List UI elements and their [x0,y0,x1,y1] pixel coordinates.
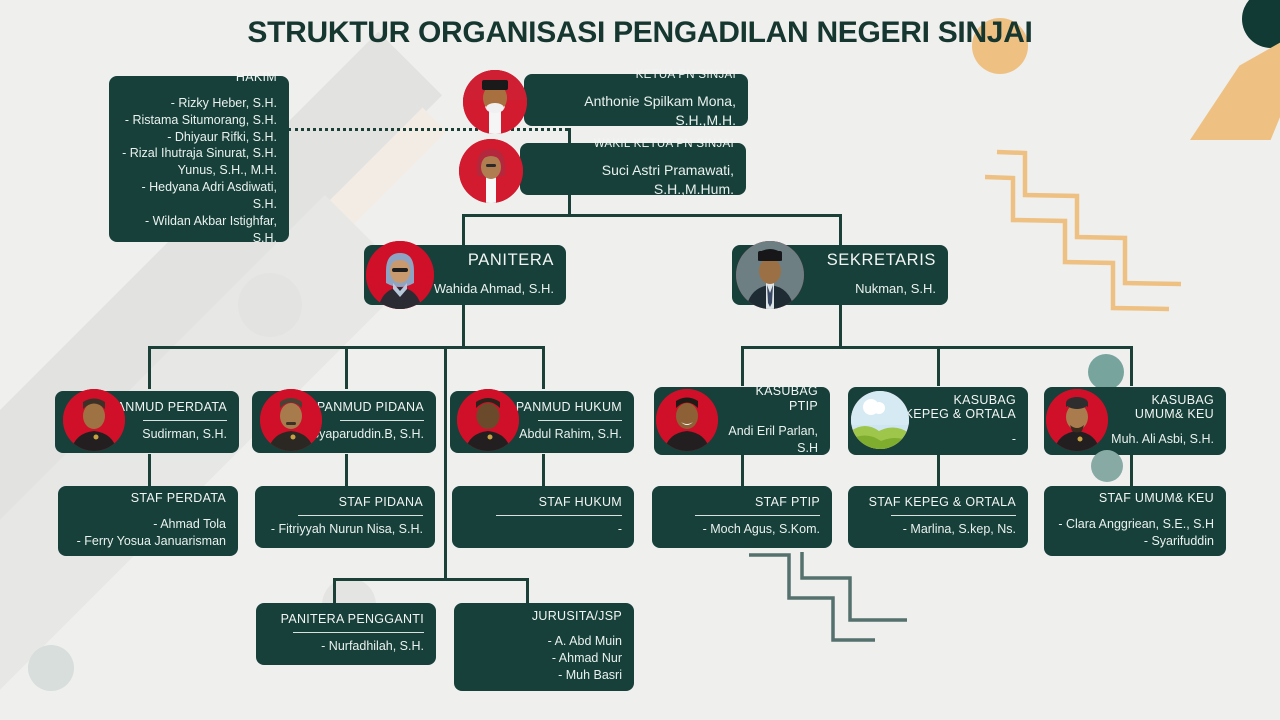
connector-hakim-dotted [288,128,568,131]
node-staf-pidana[interactable]: STAF PIDANA - Fitriyyah Nurun Nisa, S.H. [255,486,435,548]
placeholder-landscape-icon [851,391,909,449]
node-hakim-names: - Rizky Heber, S.H. - Ristama Situmorang… [121,95,277,247]
node-panitera-pengganti-title: PANITERA PENGGANTI [268,612,424,626]
divider [293,632,424,633]
divider [891,515,1016,516]
connector-drop-jurusita [526,578,529,603]
node-panmud-perdata-title: PANMUD PERDATA [107,400,227,414]
divider [298,515,423,516]
connector-panitera-to-bottom [444,346,447,578]
connector-panmud-perdata-to-staf [148,454,151,486]
decorative-zigzag-teal [745,552,920,652]
org-chart-poster: STRUKTUR ORGANISASI PENGADILAN NEGERI SI… [0,0,1280,720]
node-hakim-title: HAKIM [121,70,277,84]
node-ketua-title: KETUA PN SINJAI [576,69,736,82]
decorative-circle-grey-2 [28,645,74,691]
divider [538,420,622,421]
photo-wakil [459,139,523,203]
node-staf-hukum-title: STAF HUKUM [464,495,622,509]
node-staf-hukum-names: - [464,521,622,538]
connector-drop-kasubag-umum [1130,346,1133,386]
node-ketua-names: Anthonie Spilkam Mona, S.H.,M.H. [576,92,736,130]
node-wakil-ketua[interactable]: WAKIL KETUA PN SINJAI Suci Astri Pramawa… [520,143,746,195]
node-kasubag-umum-keu-names: Muh. Ali Asbi, S.H. [1096,431,1214,448]
connector-drop-panitera-pengganti [333,578,336,603]
node-staf-ptip-title: STAF PTIP [664,495,820,509]
node-staf-umum-keu-names: - Clara Anggriean, S.E., S.H - Syarifudd… [1056,516,1214,550]
photo-kasubag-ptip [656,389,718,451]
photo-kasubag-umum [1046,389,1108,451]
node-panitera-pengganti-names: - Nurfadhilah, S.H. [268,638,424,655]
node-panitera-pengganti[interactable]: PANITERA PENGGANTI - Nurfadhilah, S.H. [256,603,436,665]
node-panmud-hukum-names: Abdul Rahim, S.H. [502,426,622,443]
connector-drop-panmud-perdata [148,346,151,389]
node-hakim[interactable]: HAKIM - Rizky Heber, S.H. - Ristama Situ… [109,76,289,242]
connector-panitera-down [462,304,465,346]
connector-drop-kasubag-ptip [741,346,744,386]
node-staf-perdata[interactable]: STAF PERDATA - Ahmad Tola - Ferry Yosua … [58,486,238,556]
connector-bottom-branch [333,578,529,581]
connector-drop-panmud-hukum [542,346,545,389]
connector-kasubag-kepeg-to-staf [937,454,940,486]
connector-to-sekretaris [839,214,842,245]
photo-panmud-hukum [457,389,519,451]
connector-to-panitera [462,214,465,245]
node-staf-hukum[interactable]: STAF HUKUM - [452,486,634,548]
node-sekretaris-names: Nukman, S.H. [796,280,936,298]
connector-panmud-hukum-to-staf [542,454,545,486]
connector-kasubag-umum-to-staf [1130,454,1133,486]
node-kasubag-kepeg-ortala-title: KASUBAG KEPEG & ORTALA [900,393,1016,422]
node-staf-ptip[interactable]: STAF PTIP - Moch Agus, S.Kom. [652,486,832,548]
page-title: STRUKTUR ORGANISASI PENGADILAN NEGERI SI… [0,16,1280,50]
node-panmud-hukum-title: PANMUD HUKUM [502,400,622,414]
node-staf-perdata-title: STAF PERDATA [70,491,226,505]
node-staf-kepeg-ortala-title: STAF KEPEG & ORTALA [860,495,1016,509]
node-jurusita-jsp-title: JURUSITA/JSP [466,609,622,623]
photo-panmud-perdata [63,389,125,451]
node-staf-kepeg-ortala-names: - Marlina, S.kep, Ns. [860,521,1016,538]
node-wakil-ketua-names: Suci Astri Pramawati, S.H.,M.Hum. [572,161,734,199]
node-kasubag-ptip-title: KASUBAG PTIP [706,384,818,413]
node-staf-umum-keu[interactable]: STAF UMUM& KEU - Clara Anggriean, S.E., … [1044,486,1226,556]
node-kasubag-kepeg-ortala-names: - [900,431,1016,448]
node-jurusita-jsp-names: - A. Abd Muin - Ahmad Nur - Muh Basri [466,633,622,684]
node-sekretaris-title: SEKRETARIS [796,251,936,270]
node-staf-ptip-names: - Moch Agus, S.Kom. [664,521,820,538]
node-panmud-pidana-names: Syaparuddin.B, S.H. [304,426,424,443]
decorative-zigzag-orange [985,145,1195,340]
photo-panitera [366,241,434,309]
node-panmud-pidana-title: PANMUD PIDANA [304,400,424,414]
node-panitera-title: PANITERA [428,251,554,270]
connector-level2-horizontal [462,214,842,217]
node-staf-pidana-names: - Fitriyyah Nurun Nisa, S.H. [267,521,423,538]
connector-drop-panmud-pidana [345,346,348,389]
photo-sekretaris [736,241,804,309]
divider [496,515,622,516]
photo-panmud-pidana [260,389,322,451]
connector-drop-kasubag-kepeg [937,346,940,386]
decorative-circle-grey-1 [238,273,302,337]
node-staf-kepeg-ortala[interactable]: STAF KEPEG & ORTALA - Marlina, S.kep, Ns… [848,486,1028,548]
node-kasubag-umum-keu-title: KASUBAG UMUM& KEU [1096,393,1214,422]
node-staf-pidana-title: STAF PIDANA [267,495,423,509]
node-kasubag-ptip-names: Andi Eril Parlan, S.H [706,423,818,457]
connector-panmud-pidana-to-staf [345,454,348,486]
node-jurusita-jsp[interactable]: JURUSITA/JSP - A. Abd Muin - Ahmad Nur -… [454,603,634,691]
photo-ketua [463,70,527,134]
connector-sekretaris-down [839,304,842,346]
node-staf-umum-keu-title: STAF UMUM& KEU [1056,491,1214,505]
node-ketua[interactable]: KETUA PN SINJAI Anthonie Spilkam Mona, S… [524,74,748,126]
decorative-circle-teal-1 [1088,354,1124,390]
connector-kasubag-ptip-to-staf [741,454,744,486]
divider [340,420,424,421]
divider [143,420,227,421]
divider [695,515,820,516]
node-staf-perdata-names: - Ahmad Tola - Ferry Yosua Januarisman [70,516,226,550]
node-wakil-ketua-title: WAKIL KETUA PN SINJAI [572,138,734,151]
node-panitera-names: Wahida Ahmad, S.H. [428,280,554,298]
node-panmud-perdata-names: Sudirman, S.H. [107,426,227,443]
